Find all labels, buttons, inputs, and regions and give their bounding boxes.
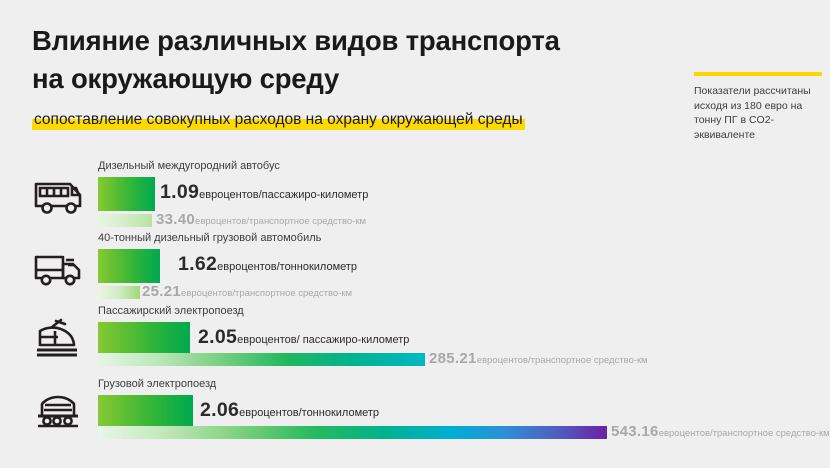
data-row-bus: Дизельный междугородний автобус 1.09евро… xyxy=(0,160,830,230)
secondary-number: 25.21 xyxy=(142,283,181,300)
primary-bar xyxy=(98,395,193,429)
infographic-canvas: Влияние различных видов транспорта на ок… xyxy=(0,0,830,468)
data-row-freight-train: Грузовой электропоезд 2.06евроцентов/тон… xyxy=(0,378,830,448)
secondary-bar xyxy=(98,353,425,366)
secondary-value: 33.40евроцентов/транспортное средство-км xyxy=(156,211,366,229)
primary-bar xyxy=(98,322,190,356)
secondary-bar xyxy=(98,214,152,227)
primary-unit: евроцентов/пассажиро-километр xyxy=(199,189,368,201)
truck-icon xyxy=(30,246,90,292)
freight-train-icon xyxy=(30,386,90,432)
secondary-unit: евроцентов/транспортное средство-км xyxy=(659,428,830,439)
secondary-unit: евроцентов/транспортное средство-км xyxy=(477,355,648,366)
note-rule xyxy=(694,72,822,76)
primary-value: 1.62евроцентов/тоннокилометр xyxy=(178,253,357,276)
secondary-value: 543.16евроцентов/транспортное средство-к… xyxy=(611,423,830,441)
secondary-number: 33.40 xyxy=(156,211,195,228)
primary-value: 2.05евроцентов/ пассажиро-километр xyxy=(198,326,409,349)
secondary-value: 285.21евроцентов/транспортное средство-к… xyxy=(429,350,648,368)
row-label: Пассажирский электропоезд xyxy=(98,305,244,317)
primary-number: 1.09 xyxy=(160,181,199,203)
passenger-train-icon xyxy=(30,315,90,361)
secondary-bar xyxy=(98,286,140,299)
data-row-truck: 40-тонный дизельный грузовой автомобиль … xyxy=(0,232,830,302)
row-label: 40-тонный дизельный грузовой автомобиль xyxy=(98,232,321,244)
primary-unit: евроцентов/ пассажиро-километр xyxy=(237,334,409,346)
primary-number: 2.05 xyxy=(198,326,237,348)
primary-unit: евроцентов/тоннокилометр xyxy=(239,407,379,419)
page-title: Влияние различных видов транспорта на ок… xyxy=(32,22,652,98)
primary-value: 2.06евроцентов/тоннокилометр xyxy=(200,399,379,422)
primary-value: 1.09евроцентов/пассажиро-километр xyxy=(160,181,368,204)
row-label: Дизельный междугородний автобус xyxy=(98,160,280,172)
primary-unit: евроцентов/тоннокилометр xyxy=(217,261,357,273)
title-line-2: на окружающую среду xyxy=(32,60,652,98)
secondary-unit: евроцентов/транспортное средство-км xyxy=(195,216,366,227)
primary-bar xyxy=(98,177,155,211)
secondary-number: 543.16 xyxy=(611,423,659,440)
row-label: Грузовой электропоезд xyxy=(98,378,216,390)
primary-number: 1.62 xyxy=(178,253,217,275)
primary-bar xyxy=(98,249,160,283)
secondary-bar xyxy=(98,426,607,439)
primary-number: 2.06 xyxy=(200,399,239,421)
secondary-unit: евроцентов/транспортное средство-км xyxy=(181,288,352,299)
secondary-value: 25.21евроцентов/транспортное средство-км xyxy=(142,283,352,301)
bus-icon xyxy=(30,174,90,220)
subtitle-text: сопоставление совокупных расходов на охр… xyxy=(34,111,523,128)
title-line-1: Влияние различных видов транспорта xyxy=(32,22,652,60)
secondary-number: 285.21 xyxy=(429,350,477,367)
page-subtitle: сопоставление совокупных расходов на охр… xyxy=(32,110,525,130)
subtitle-container: сопоставление совокупных расходов на охр… xyxy=(32,110,525,132)
methodology-note: Показатели рассчитаны исходя из 180 евро… xyxy=(694,84,826,142)
data-row-passenger-train: Пассажирский электропоезд 2.05евроцентов… xyxy=(0,305,830,375)
